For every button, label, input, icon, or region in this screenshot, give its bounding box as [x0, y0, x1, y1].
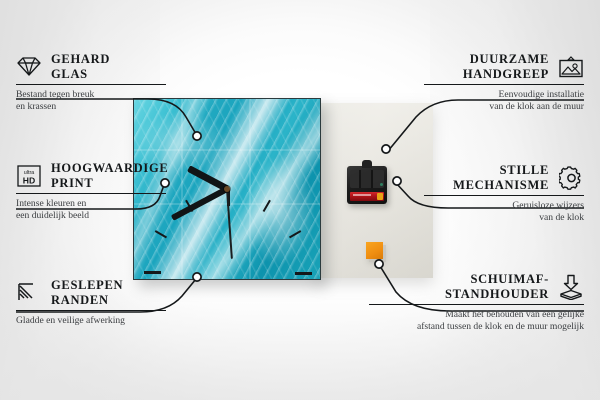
feature-title-line2: GLAS [51, 67, 110, 82]
foam-spacer-pad [366, 242, 383, 259]
ultra-hd-icon: ultra HD [16, 164, 42, 188]
diamond-icon [16, 55, 42, 79]
feature-sub-line2: van de klok aan de muur [424, 101, 584, 113]
feature-sub-line1: Eenvoudige installatie [424, 89, 584, 101]
feature-hoogwaardige-print: ultra HD HOOGWAARDIGE PRINT Intense kleu… [16, 161, 166, 222]
feature-title-line1: STILLE [453, 163, 549, 178]
feature-sub-line1: Gladde en veilige afwerking [16, 315, 166, 327]
clock-hand-hub [224, 186, 230, 192]
feature-geslepen-randen: GESLEPEN RANDEN Gladde en veilige afwerk… [16, 278, 166, 327]
battery [350, 192, 384, 201]
feature-title-line1: HOOGWAARDIGE [51, 161, 168, 176]
clock-mechanism [347, 166, 387, 204]
beveled-edges-icon [16, 281, 42, 305]
feature-divider [369, 304, 584, 305]
feature-sub-line2: van de klok [424, 212, 584, 224]
feature-divider [16, 84, 166, 85]
feature-title-line2: PRINT [51, 176, 168, 191]
feature-schuimaf-standhouder: SCHUIMAF- STANDHOUDER Maakt het behouden… [369, 272, 584, 333]
feature-divider [16, 310, 166, 311]
feature-title-line2: STANDHOUDER [445, 287, 549, 302]
gear-icon [558, 166, 584, 190]
feature-sub-line2: en krassen [16, 101, 166, 113]
feature-divider [424, 195, 584, 196]
svg-text:HD: HD [23, 175, 35, 185]
picture-frame-icon [558, 55, 584, 79]
feature-title-line1: SCHUIMAF- [445, 272, 549, 287]
infographic-canvas: GEHARD GLAS Bestand tegen breuk en krass… [0, 0, 600, 400]
feature-duurzame-handgreep: DUURZAME HANDGREEP Eenvoudige installati… [424, 52, 584, 113]
press-down-icon [558, 275, 584, 299]
feature-title-line1: GESLEPEN [51, 278, 123, 293]
feature-title-line2: MECHANISME [453, 178, 549, 193]
mechanism-housing-detail [350, 170, 384, 188]
feature-title-line2: RANDEN [51, 293, 123, 308]
feature-sub-line1: Intense kleuren en [16, 198, 166, 210]
feature-stille-mechanisme: STILLE MECHANISME Geruisloze wijzers van… [424, 163, 584, 224]
mechanism-hanger [362, 160, 372, 168]
feature-sub-line2: afstand tussen de klok en de muur mogeli… [369, 321, 584, 333]
feature-sub-line2: een duidelijk beeld [16, 210, 166, 222]
battery-positive-terminal [377, 193, 383, 200]
feature-sub-line1: Bestand tegen breuk [16, 89, 166, 101]
feature-gehard-glas: GEHARD GLAS Bestand tegen breuk en krass… [16, 52, 166, 113]
feature-title-line1: GEHARD [51, 52, 110, 67]
feature-title-line1: DUURZAME [463, 52, 549, 67]
mechanism-indicator [380, 183, 383, 186]
feature-divider [16, 193, 166, 194]
feature-divider [424, 84, 584, 85]
feature-sub-line1: Geruisloze wijzers [424, 200, 584, 212]
feature-sub-line1: Maakt het behouden van een gelijke [369, 309, 584, 321]
feature-title-line2: HANDGREEP [463, 67, 549, 82]
